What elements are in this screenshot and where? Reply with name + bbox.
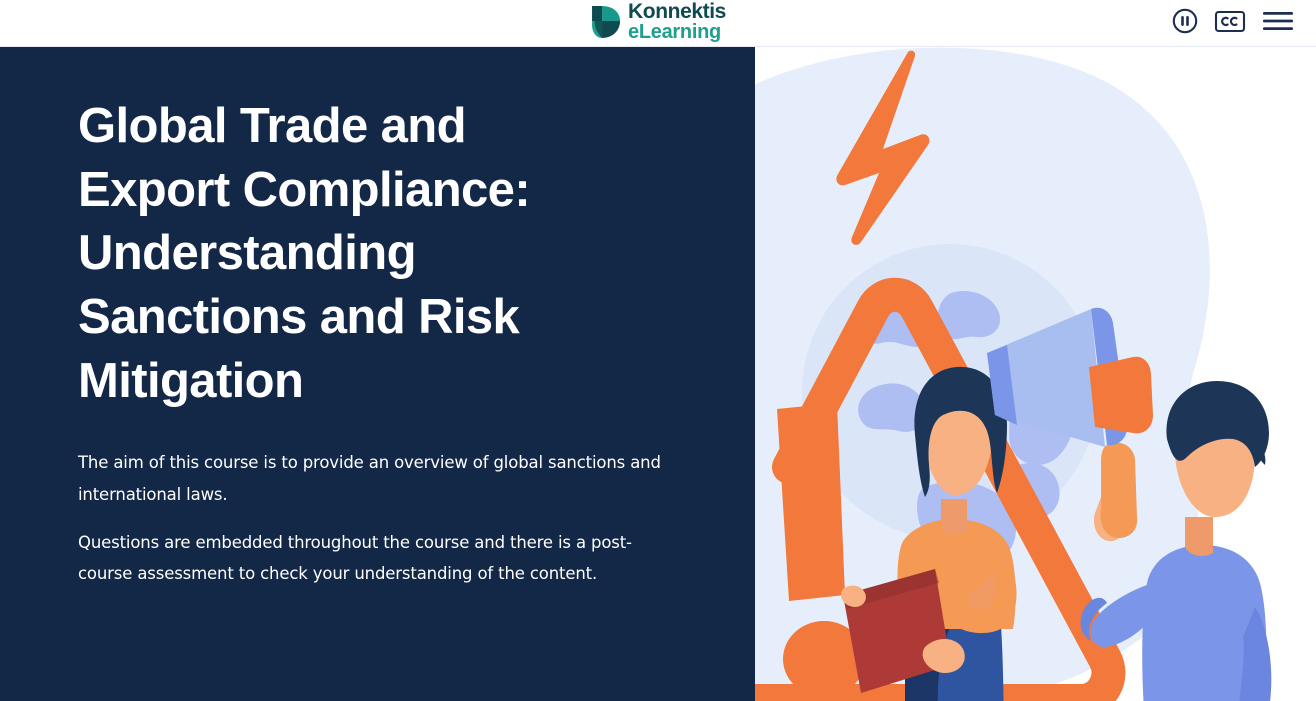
slide-paragraph-1: The aim of this course is to provide an … bbox=[78, 447, 678, 510]
konnektis-k-petal-logo-icon bbox=[590, 5, 622, 39]
global-trade-compliance-illustration bbox=[755, 47, 1316, 701]
slide-text-panel: Global Trade and Export Compliance: Unde… bbox=[0, 47, 755, 701]
brand-logo[interactable]: Konnektis eLearning bbox=[590, 2, 726, 42]
app-header: Konnektis eLearning bbox=[0, 0, 1316, 47]
brand-wordmark: Konnektis eLearning bbox=[628, 2, 726, 42]
slide-paragraph-2: Questions are embedded throughout the co… bbox=[78, 527, 678, 590]
hamburger-menu-icon[interactable] bbox=[1262, 10, 1294, 37]
brand-line-1: Konnektis bbox=[628, 2, 726, 23]
pause-circle-icon[interactable] bbox=[1172, 8, 1198, 39]
brand-line-2: eLearning bbox=[628, 23, 726, 43]
player-controls bbox=[1172, 0, 1294, 47]
page-title: Global Trade and Export Compliance: Unde… bbox=[78, 95, 638, 413]
closed-captions-icon[interactable] bbox=[1214, 8, 1246, 39]
